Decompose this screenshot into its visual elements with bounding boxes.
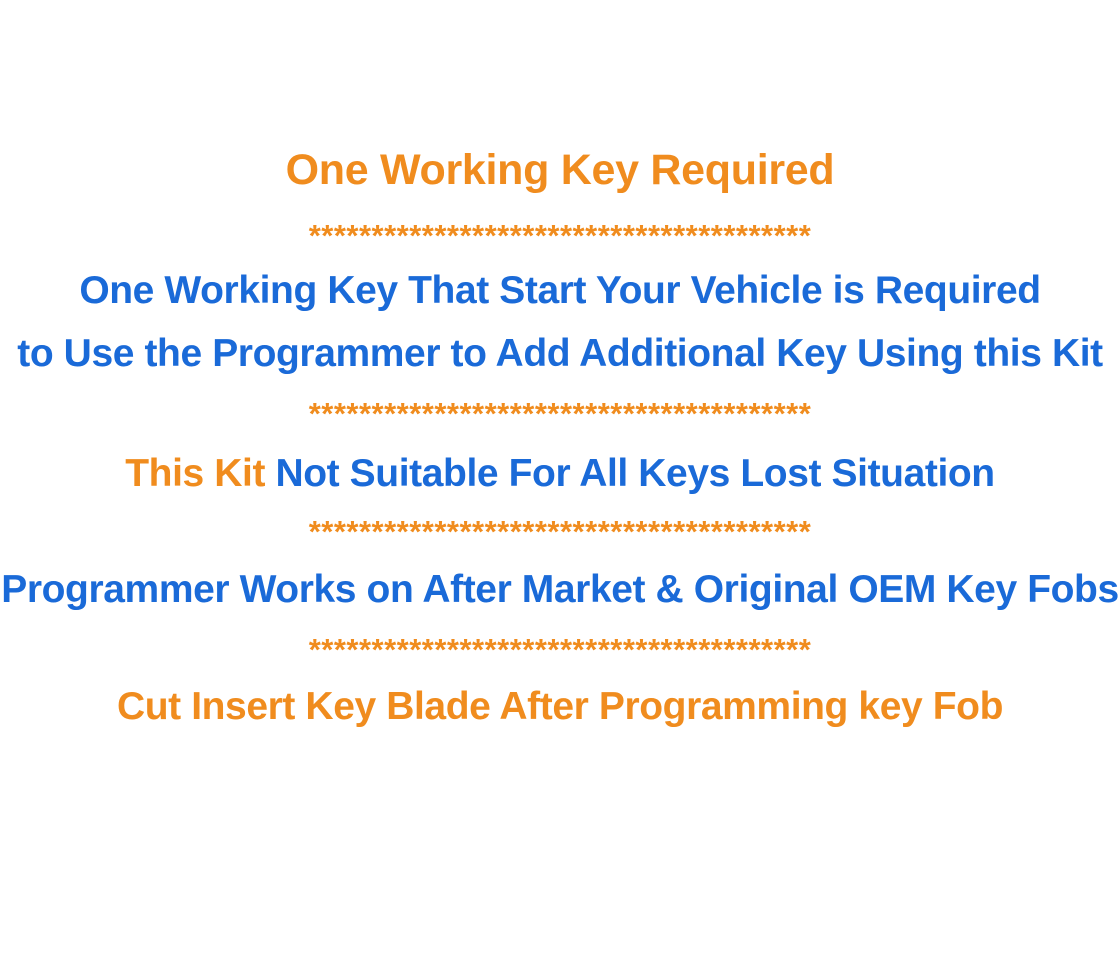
notice-stack: One Working Key Required ***************… — [0, 0, 1120, 727]
separator-4: **************************************** — [0, 634, 1120, 664]
key-blade-line: Cut Insert Key Blade After Programming k… — [0, 686, 1120, 727]
all-keys-lost-text: Not Suitable For All Keys Lost Situation — [265, 452, 995, 495]
separator-2: **************************************** — [0, 398, 1120, 428]
requirement-line-2: to Use the Programmer to Add Additional … — [0, 333, 1120, 374]
compatibility-line: Programmer Works on After Market & Origi… — [0, 569, 1120, 610]
notice-title: One Working Key Required — [0, 148, 1120, 194]
separator-1: **************************************** — [0, 220, 1120, 250]
notice-canvas: One Working Key Required ***************… — [0, 0, 1120, 956]
all-keys-lost-accent: This Kit — [125, 452, 265, 495]
all-keys-lost-line: This Kit Not Suitable For All Keys Lost … — [0, 453, 1120, 494]
separator-3: **************************************** — [0, 516, 1120, 546]
requirement-line-1: One Working Key That Start Your Vehicle … — [0, 270, 1120, 311]
